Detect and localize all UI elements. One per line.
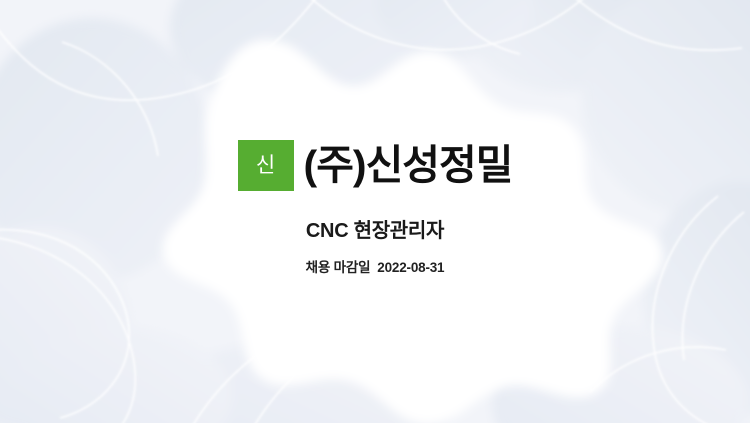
job-deadline-date: 2022-08-31 xyxy=(377,260,444,276)
job-position-title: CNC 현장관리자 xyxy=(306,219,444,243)
card-content: 신 (주)신성정밀 CNC 현장관리자 채용 마감일 2022-08-31 xyxy=(0,0,750,423)
company-logo-badge: 신 xyxy=(238,140,294,191)
company-header: 신 (주)신성정밀 xyxy=(238,140,513,191)
job-posting-card: 신 (주)신성정밀 CNC 현장관리자 채용 마감일 2022-08-31 xyxy=(0,0,750,423)
job-deadline-label: 채용 마감일 xyxy=(306,260,371,276)
company-logo-badge-text: 신 xyxy=(256,155,275,176)
company-name: (주)신성정밀 xyxy=(304,145,513,186)
job-deadline: 채용 마감일 2022-08-31 xyxy=(306,260,445,276)
